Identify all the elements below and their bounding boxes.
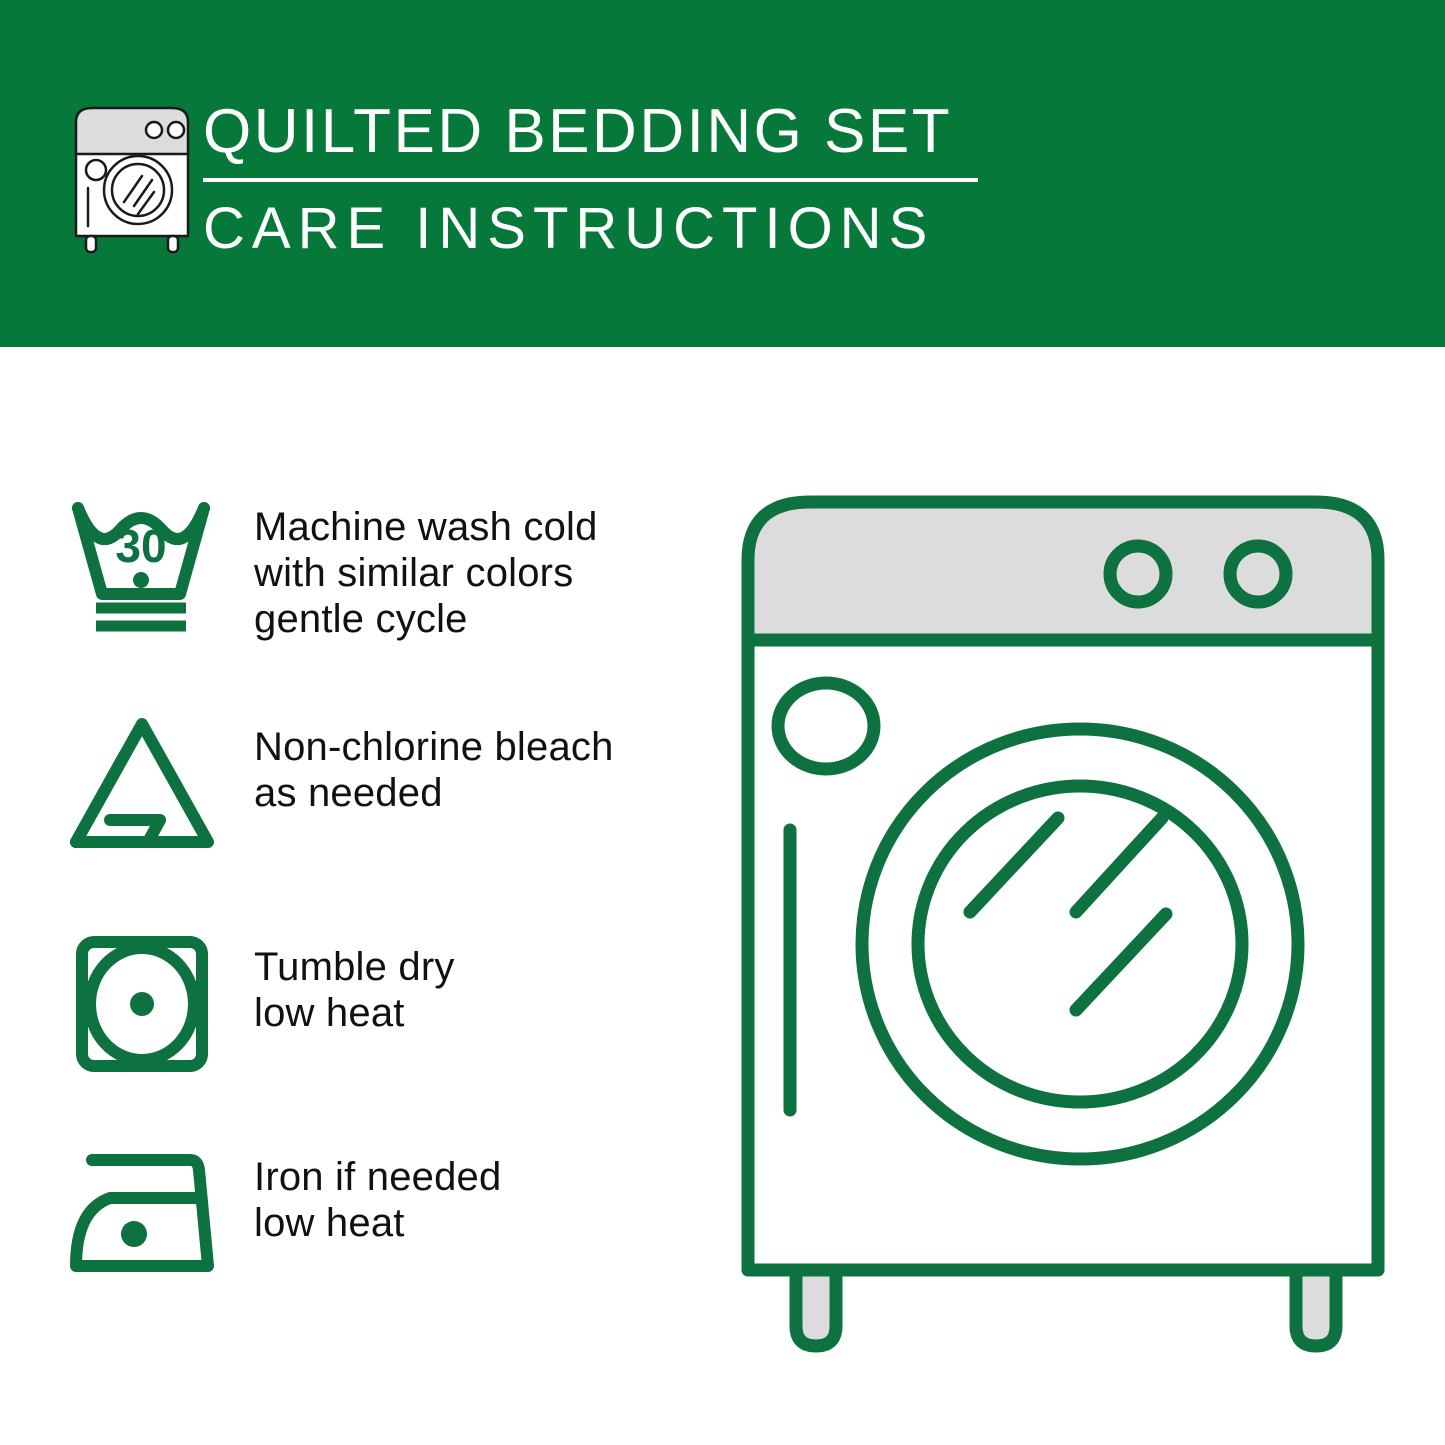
care-instructions-page: QUILTED BEDDING SET CARE INSTRUCTIONS bbox=[0, 0, 1445, 1445]
wash-temperature-label: 30 bbox=[115, 520, 166, 572]
care-item-text-machine-wash: Machine wash cold with similar colors ge… bbox=[254, 490, 598, 642]
care-item-bleach: Non-chlorine bleach as needed bbox=[0, 710, 700, 870]
care-text-line: low heat bbox=[254, 1200, 501, 1246]
page-subtitle: CARE INSTRUCTIONS bbox=[203, 196, 1003, 262]
knob-right-icon bbox=[1230, 546, 1286, 602]
title-divider bbox=[203, 178, 978, 182]
tumble-dry-icon bbox=[62, 930, 232, 1090]
care-text-line: with similar colors bbox=[254, 550, 598, 596]
care-text-line: low heat bbox=[254, 990, 455, 1036]
washing-machine-icon bbox=[62, 98, 202, 258]
care-item-text-bleach: Non-chlorine bleach as needed bbox=[254, 710, 614, 816]
care-text-line: Machine wash cold bbox=[254, 504, 598, 550]
care-text-line: as needed bbox=[254, 770, 614, 816]
care-item-text-iron: Iron if needed low heat bbox=[254, 1140, 501, 1246]
care-item-iron: Iron if needed low heat bbox=[0, 1140, 700, 1300]
washing-machine-illustration bbox=[718, 470, 1418, 1360]
dispenser-icon bbox=[778, 683, 874, 769]
care-text-line: Tumble dry bbox=[254, 944, 455, 990]
care-item-text-tumble-dry: Tumble dry low heat bbox=[254, 930, 455, 1036]
care-text-line: gentle cycle bbox=[254, 596, 598, 642]
care-item-tumble-dry: Tumble dry low heat bbox=[0, 930, 700, 1090]
care-text-line: Non-chlorine bleach bbox=[254, 724, 614, 770]
knob-left-icon bbox=[1110, 546, 1166, 602]
page-header: QUILTED BEDDING SET CARE INSTRUCTIONS bbox=[0, 0, 1445, 347]
care-text-line: Iron if needed bbox=[254, 1154, 501, 1200]
door-inner-ring bbox=[918, 786, 1242, 1102]
leg-right bbox=[1296, 1270, 1336, 1346]
leg-left bbox=[796, 1270, 836, 1346]
header-text-block: QUILTED BEDDING SET CARE INSTRUCTIONS bbox=[203, 96, 1003, 262]
bleach-triangle-icon bbox=[62, 710, 232, 870]
wash-tub-30-icon: 30 bbox=[62, 490, 232, 650]
care-item-machine-wash: 30 Machine wash cold with similar colors… bbox=[0, 490, 700, 650]
iron-icon bbox=[62, 1140, 232, 1300]
page-title: QUILTED BEDDING SET bbox=[203, 96, 1003, 168]
